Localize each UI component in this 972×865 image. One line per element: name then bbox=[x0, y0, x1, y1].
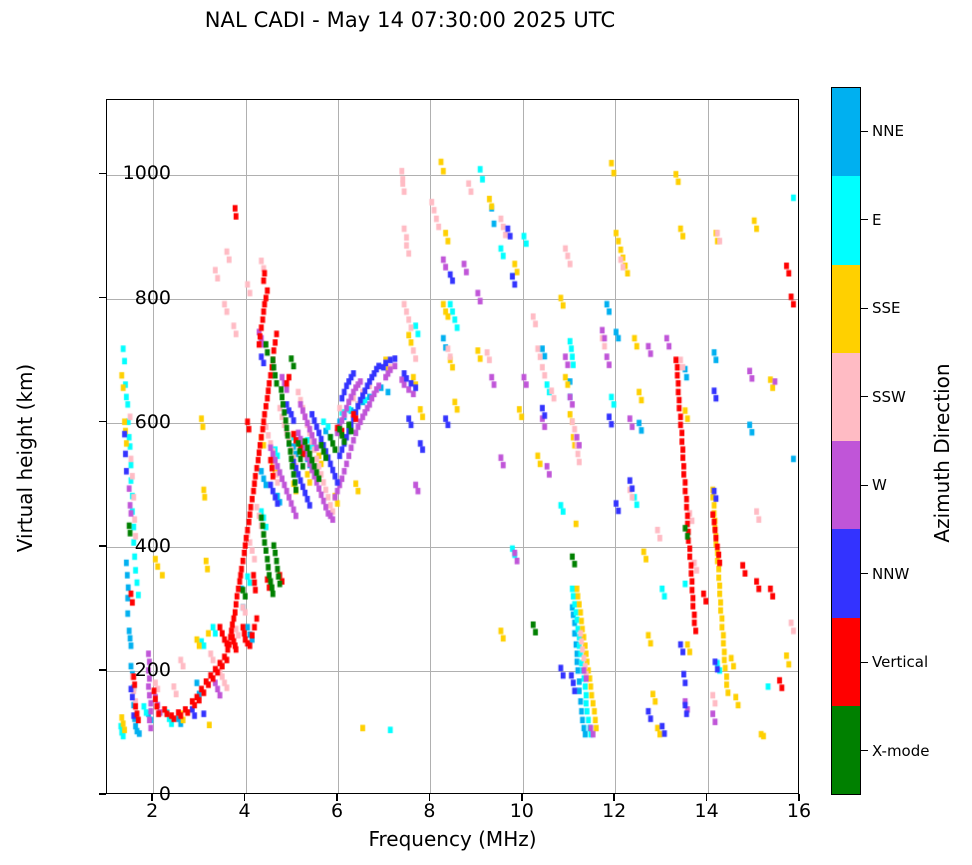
ionogram-scatter-canvas bbox=[107, 100, 798, 793]
colorbar-title: Azimuth Direction bbox=[930, 273, 954, 633]
x-tick-mark bbox=[336, 794, 338, 801]
x-tick-mark bbox=[429, 794, 431, 801]
x-tick-label: 16 bbox=[787, 800, 811, 822]
colorbar-segment-x-mode bbox=[832, 706, 860, 794]
y-tick-label: 0 bbox=[159, 783, 171, 805]
plot-area bbox=[106, 99, 799, 794]
y-tick-label: 600 bbox=[135, 411, 171, 433]
y-tick-label: 1000 bbox=[123, 162, 171, 184]
y-tick-label: 200 bbox=[135, 659, 171, 681]
y-tick-mark bbox=[99, 669, 106, 671]
colorbar-label-vertical: Vertical bbox=[872, 653, 928, 671]
x-tick-mark bbox=[798, 794, 800, 801]
x-tick-label: 8 bbox=[423, 800, 435, 822]
colorbar-segment-nnw bbox=[832, 529, 860, 617]
y-tick-mark bbox=[99, 173, 106, 175]
colorbar-label-nnw: NNW bbox=[872, 565, 909, 583]
colorbar-segment-nne bbox=[832, 88, 860, 176]
x-tick-mark bbox=[521, 794, 523, 801]
x-tick-mark bbox=[706, 794, 708, 801]
colorbar-tick-mark bbox=[861, 131, 868, 132]
colorbar-tick-mark bbox=[861, 308, 868, 309]
y-tick-label: 400 bbox=[135, 535, 171, 557]
colorbar-segment-e bbox=[832, 176, 860, 264]
y-tick-mark bbox=[99, 545, 106, 547]
colorbar-label-ssw: SSW bbox=[872, 388, 906, 406]
colorbar-segment-ssw bbox=[832, 353, 860, 441]
x-axis-label: Frequency (MHz) bbox=[106, 827, 799, 851]
colorbar-segment-w bbox=[832, 441, 860, 529]
colorbar-label-e: E bbox=[872, 211, 881, 229]
y-tick-mark bbox=[99, 297, 106, 299]
x-tick-label: 14 bbox=[695, 800, 719, 822]
colorbar-tick-mark bbox=[861, 396, 868, 397]
colorbar-tick-mark bbox=[861, 662, 868, 663]
colorbar-tick-mark bbox=[861, 750, 868, 751]
x-tick-mark bbox=[244, 794, 246, 801]
colorbar-label-w: W bbox=[872, 476, 887, 494]
colorbar-label-x-mode: X-mode bbox=[872, 742, 929, 760]
colorbar-label-nne: NNE bbox=[872, 122, 904, 140]
x-tick-label: 10 bbox=[510, 800, 534, 822]
colorbar-tick-mark bbox=[861, 573, 868, 574]
y-tick-mark bbox=[99, 793, 106, 795]
ionogram-figure: NAL CADI - May 14 07:30:00 2025 UTC Virt… bbox=[0, 0, 972, 865]
azimuth-colorbar bbox=[831, 87, 861, 795]
x-tick-mark bbox=[151, 794, 153, 801]
colorbar-tick-mark bbox=[861, 219, 868, 220]
page-title: NAL CADI - May 14 07:30:00 2025 UTC bbox=[0, 8, 820, 32]
x-tick-label: 6 bbox=[331, 800, 343, 822]
colorbar-segment-sse bbox=[832, 265, 860, 353]
colorbar-label-sse: SSE bbox=[872, 299, 901, 317]
x-tick-label: 12 bbox=[602, 800, 626, 822]
x-tick-label: 2 bbox=[146, 800, 158, 822]
y-tick-label: 800 bbox=[135, 287, 171, 309]
colorbar-segment-vertical bbox=[832, 618, 860, 706]
x-tick-label: 4 bbox=[239, 800, 251, 822]
colorbar-tick-mark bbox=[861, 485, 868, 486]
x-tick-mark bbox=[613, 794, 615, 801]
y-axis-label: Virtual height (km) bbox=[13, 278, 37, 638]
y-tick-mark bbox=[99, 421, 106, 423]
